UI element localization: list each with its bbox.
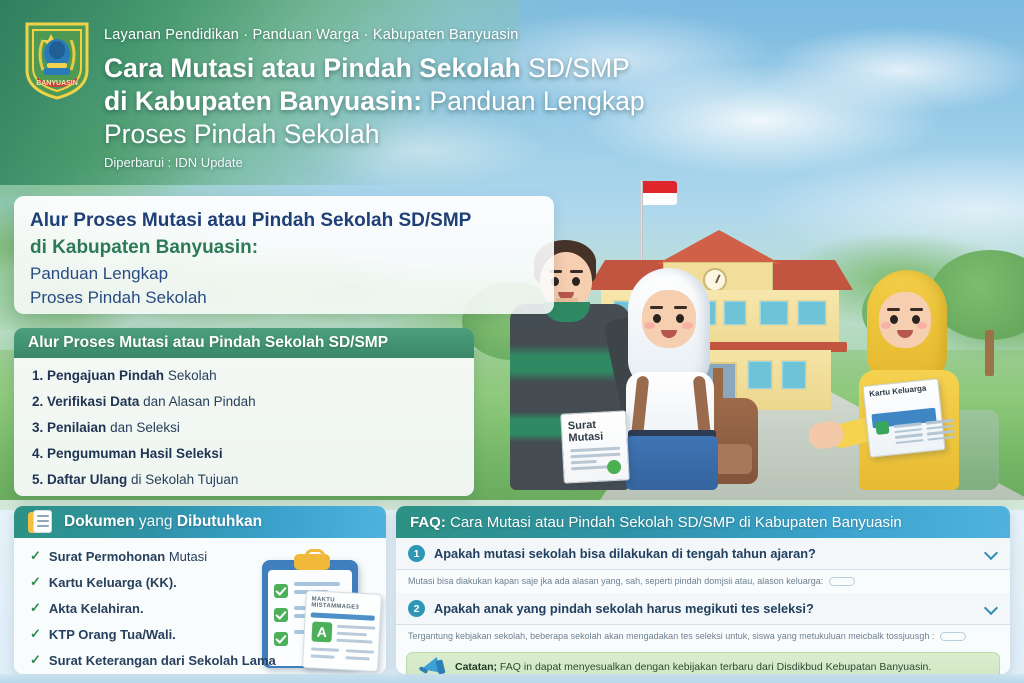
check-icon: ✓ [30,601,41,615]
dokumen-panel: Dokumen yang Dibutuhkan MAKTU MISTAMMAGE… [14,506,386,674]
check-icon: ✓ [30,653,41,667]
infographic-poster: Surat Mutasi Kartu Keluarga BA [0,0,1024,683]
title-card-line1: Alur Proses Mutasi atau Pindah Sekolah S… [30,208,538,234]
alur-step-strong: Penilaian [47,420,106,435]
alur-step-item: 2. Verifikasi Data dan Alasan Pindah [32,394,474,410]
dokumen-item-strong: Surat Keterangan dari Sekolah Lama [49,653,276,668]
alur-step-item: 3. Penilaian dan Seleksi [32,420,474,436]
alur-proses-card: Alur Proses Mutasi atau Pindah Sekolah S… [14,328,474,496]
banyuasin-regency-emblem-icon: BANYUASIN [23,20,91,100]
faq-note-box: Catatan; FAQ in dapat menyesualkan denga… [406,652,1000,674]
dokumen-item-strong: Surat Permohonan [49,549,165,564]
alur-step-strong: Pengajuan Pindah [47,368,164,383]
svg-text:BANYUASIN: BANYUASIN [36,80,78,87]
document-seal-icon [607,460,622,475]
megaphone-icon [417,657,445,674]
alur-step-rest: di Sekolah Tujuan [127,472,238,487]
faq-head-rest: Cara Mutasi atau Pindah Sekolah SD/SMP d… [446,514,902,531]
faq-answer-row: Mutasi bisa diakukan kapan saje jka ada … [396,570,1010,593]
faq-answer-text: Tergantung kebjakan sekolah, beberapa se… [408,630,934,642]
title-card-line2: di Kabupaten Banyuasin: [30,234,538,262]
faq-note-label: Catatan; [455,661,497,673]
title-card-line3: Panduan Lengkap [30,262,538,286]
updated-label: Diperbarui : IDN Update [104,155,243,170]
faq-answer-text: Mutasi bisa diakukan kapan saje jka ada … [408,575,823,587]
faq-items-list: 1Apakah mutasi sekolah bisa dilakukan di… [396,538,1010,648]
alur-proses-heading: Alur Proses Mutasi atau Pindah Sekolah S… [14,328,474,358]
alur-step-number: 2. [32,394,43,409]
alur-step-rest: dan Alasan Pindah [139,394,255,409]
bottom-strip [0,674,1024,683]
chevron-down-icon[interactable] [985,547,998,560]
dokumen-list-item: ✓Surat Keterangan dari Sekolah Lama [30,653,386,668]
page-title-line2-bold: di Kabupaten Banyuasin: [104,86,429,116]
faq-answer-row: Tergantung kebjakan sekolah, beberapa se… [396,625,1010,648]
check-icon: ✓ [30,549,41,563]
faq-answer-pill [829,577,855,586]
page-title-line3: Proses Pindah Sekolah [104,119,379,149]
faq-question-text: Apakah anak yang pindah sekolah harus me… [434,601,976,616]
faq-panel-header: FAQ: Cara Mutasi atau Pindah Sekolah SD/… [396,506,1010,538]
page-title-line2-light: Panduan Lengkap [429,86,644,116]
faq-note-text: Catatan; FAQ in dapat menyesualkan denga… [455,661,931,673]
dokumen-items-list: ✓Surat Permohonan Mutasi✓Kartu Keluarga … [14,538,386,668]
header-kicker: Layanan Pendidikan · Panduan Warga · Kab… [104,27,519,43]
check-icon: ✓ [30,575,41,589]
faq-note-body: FAQ in dapat menyesualkan dengan kebijak… [497,661,931,673]
alur-step-rest: Sekolah [164,368,217,383]
documents-icon [28,510,54,534]
kartu-keluarga-card: Kartu Keluarga [862,378,945,458]
dokumen-list-item: ✓Surat Permohonan Mutasi [30,549,386,564]
alur-steps-list: 1. Pengajuan Pindah Sekolah2. Verifikasi… [14,358,474,488]
faq-question-number: 1 [408,545,425,562]
dokumen-item-rest: Mutasi [165,549,207,564]
alur-step-number: 3. [32,420,43,435]
check-icon: ✓ [30,627,41,641]
alur-step-strong: Daftar Ulang [47,472,127,487]
dokumen-item-strong: Kartu Keluarga (KK). [49,575,177,590]
kk-emblem-icon [875,421,889,435]
page-title-line1-light: SD/SMP [528,53,630,83]
alur-step-item: 5. Daftar Ulang di Sekolah Tujuan [32,472,474,488]
title-card: Alur Proses Mutasi atau Pindah Sekolah S… [14,196,554,314]
faq-question-row[interactable]: 1Apakah mutasi sekolah bisa dilakukan di… [396,538,1010,570]
alur-step-item: 4. Pengumuman Hasil Seleksi [32,446,474,462]
page-title: Cara Mutasi atau Pindah Sekolah SD/SMP d… [104,52,864,151]
dokumen-head-part3: Dibutuhkan [177,513,262,530]
faq-question-number: 2 [408,600,425,617]
dokumen-list-item: ✓KTP Orang Tua/Wali. [30,627,386,642]
alur-step-number: 1. [32,368,43,383]
alur-step-strong: Pengumuman Hasil Seleksi [47,446,223,461]
faq-question-text: Apakah mutasi sekolah bisa dilakukan di … [434,546,976,561]
dokumen-item-strong: KTP Orang Tua/Wali. [49,627,176,642]
dokumen-list-item: ✓Akta Kelahiran. [30,601,386,616]
page-header: BANYUASIN Layanan Pendidikan · Panduan W… [0,0,1024,185]
dokumen-item-strong: Akta Kelahiran. [49,601,144,616]
surat-mutasi-label: Surat Mutasi [561,411,627,446]
student-girl-character [612,268,742,490]
faq-question-row[interactable]: 2Apakah anak yang pindah sekolah harus m… [396,593,1010,625]
dokumen-list-item: ✓Kartu Keluarga (KK). [30,575,386,590]
faq-answer-pill [940,632,966,641]
alur-step-item: 1. Pengajuan Pindah Sekolah [32,368,474,384]
alur-step-number: 5. [32,472,43,487]
faq-panel: FAQ: Cara Mutasi atau Pindah Sekolah SD/… [396,506,1010,674]
chevron-down-icon[interactable] [985,602,998,615]
alur-step-strong: Verifikasi Data [47,394,139,409]
title-card-line4: Proses Pindah Sekolah [30,286,538,310]
alur-step-rest: dan Seleksi [106,420,180,435]
surat-mutasi-document: Surat Mutasi [560,410,630,483]
dokumen-head-part2: yang [135,513,177,530]
alur-step-number: 4. [32,446,43,461]
page-title-line1-bold: Cara Mutasi atau Pindah Sekolah [104,53,528,83]
dokumen-head-part1: Dokumen [64,513,135,530]
faq-head-bold: FAQ: [410,514,446,531]
dokumen-panel-header: Dokumen yang Dibutuhkan [14,506,386,538]
